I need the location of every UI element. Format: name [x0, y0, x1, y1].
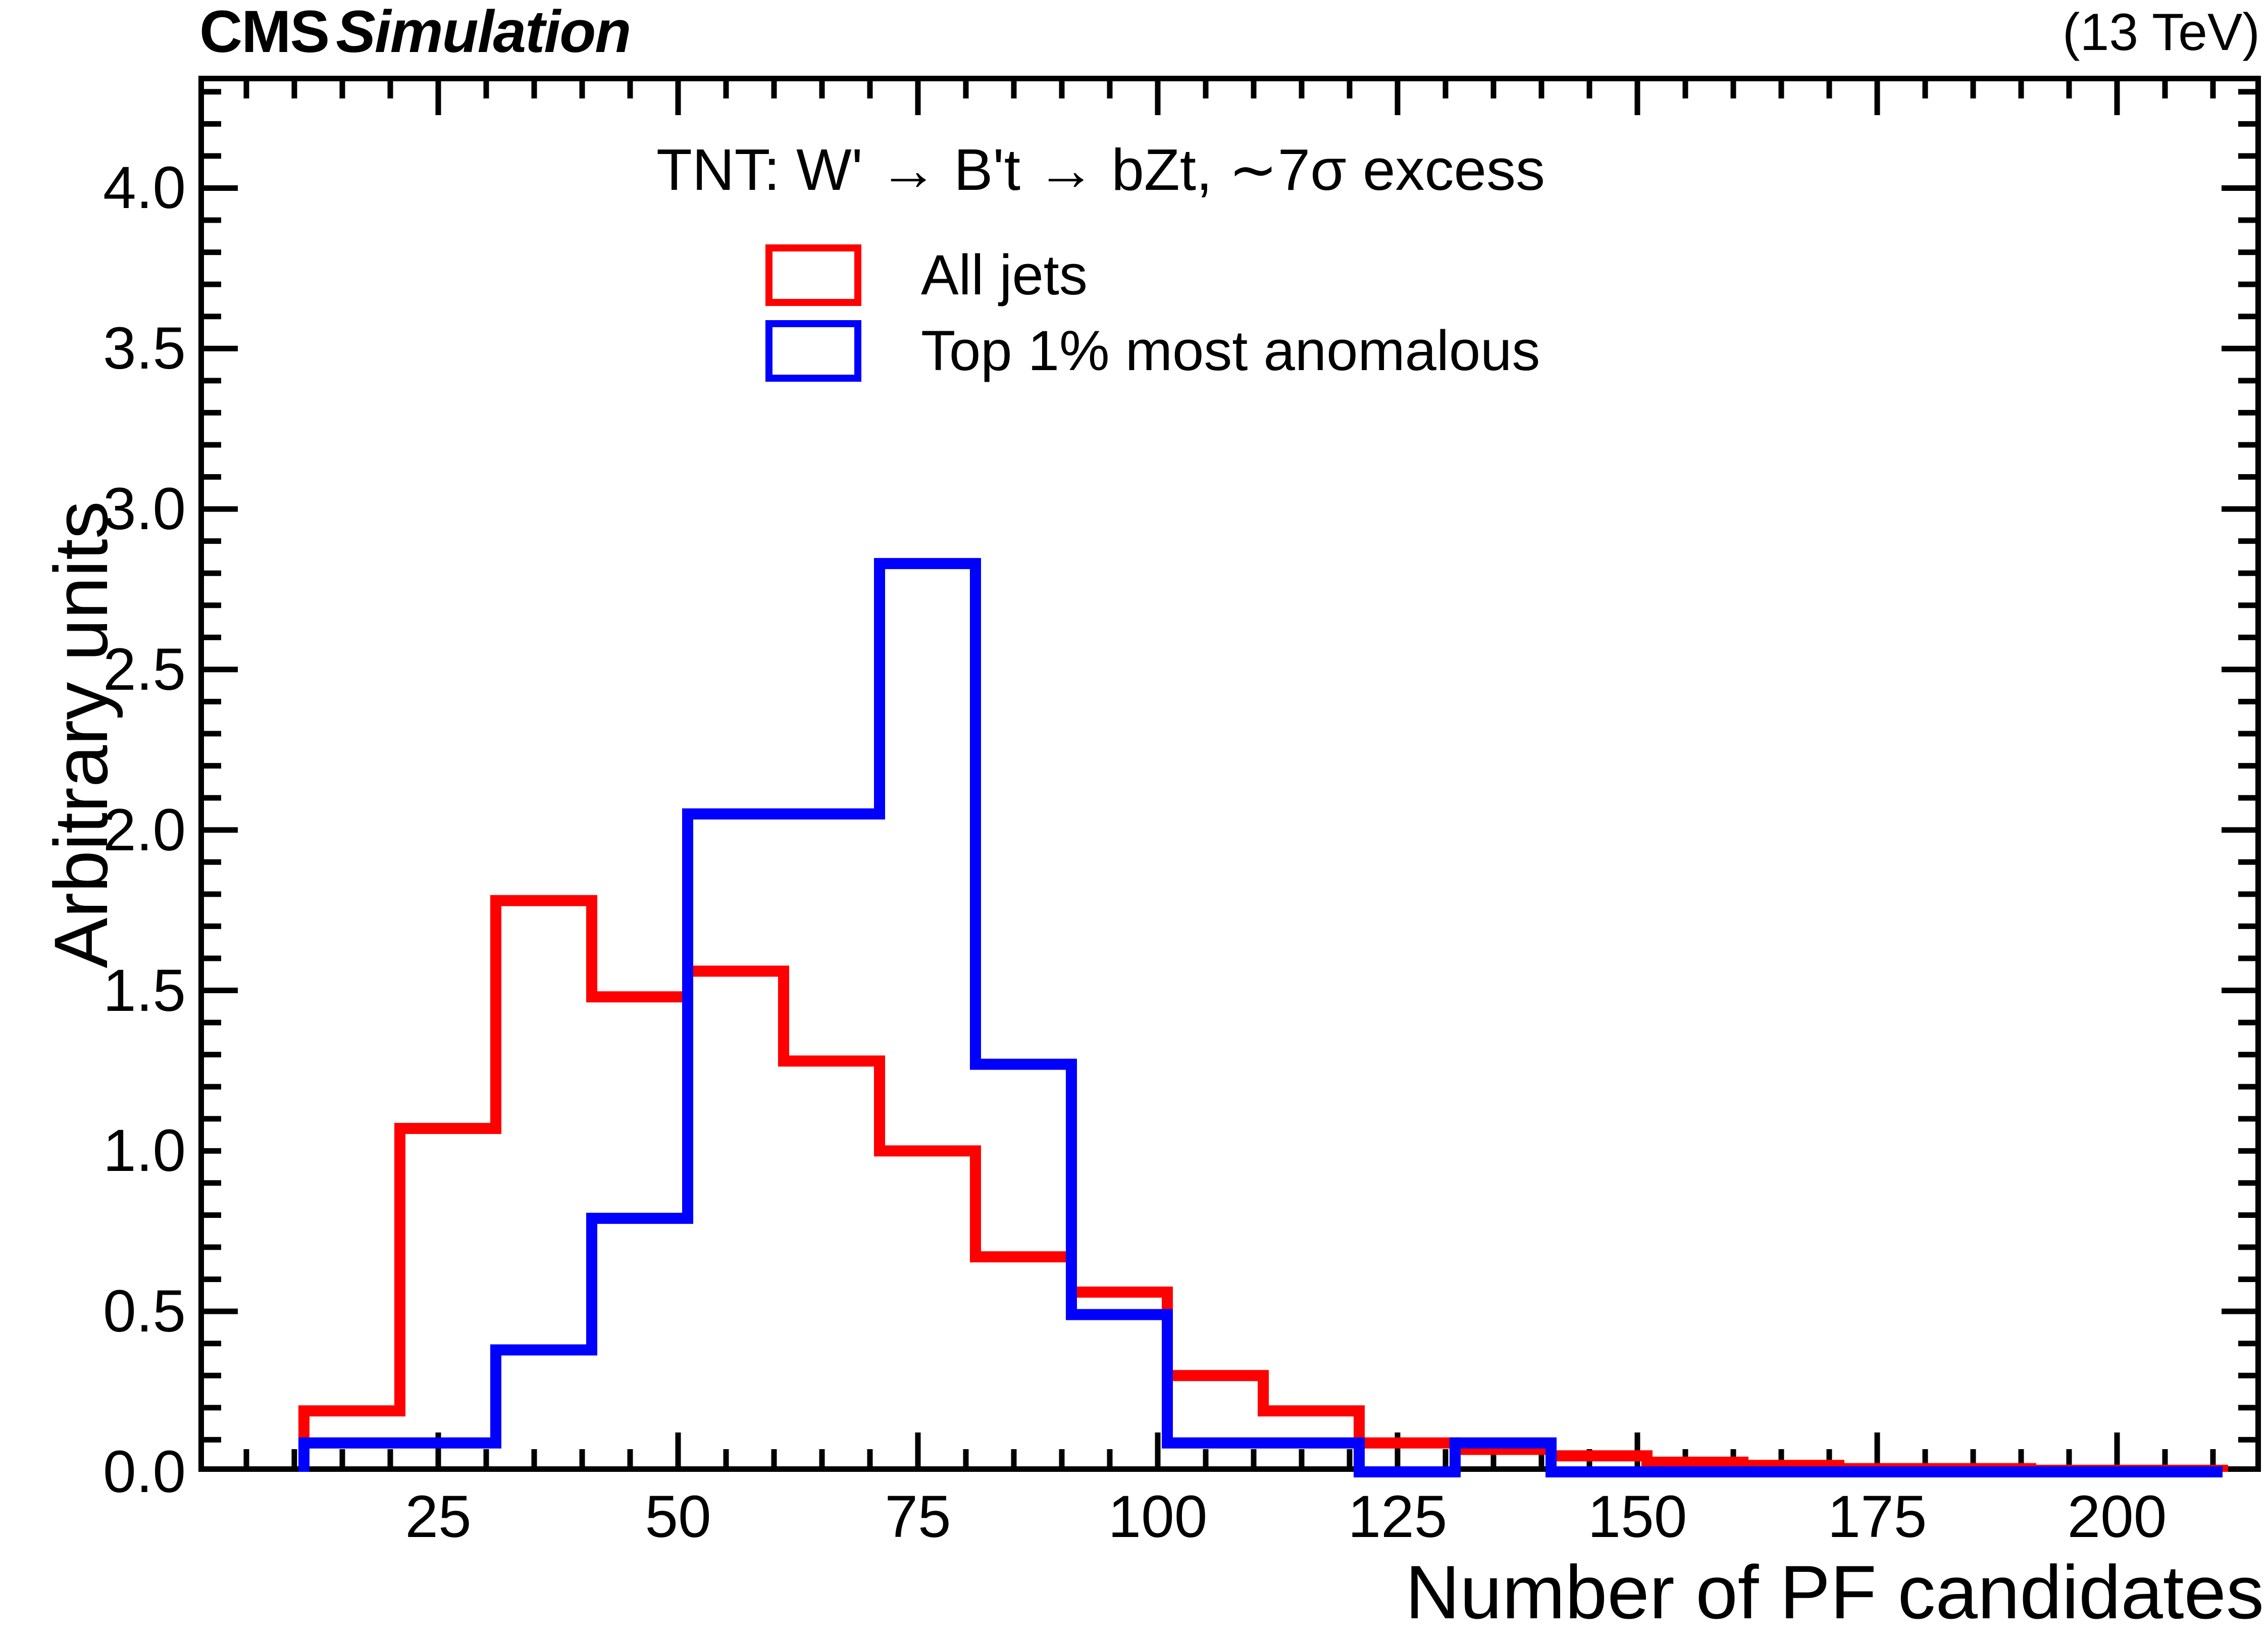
figure-root: CMSSimulation (13 TeV) TNT: W' → B't → b…: [0, 0, 2268, 1640]
y-axis-tick-labels: 0.00.51.01.52.02.53.03.54.0: [0, 0, 186, 1640]
legend-swatch-anomalous: [765, 320, 861, 382]
x-tick-label: 175: [1828, 1487, 1927, 1547]
cms-text: CMS: [199, 0, 329, 65]
simulation-text: Simulation: [336, 0, 630, 65]
legend-label-all-jets: All jets: [921, 247, 1088, 303]
plot-title: TNT: W' → B't → bZt, ∼7σ excess: [656, 140, 1545, 199]
y-tick-label: 2.5: [103, 640, 186, 699]
cms-experiment-label: CMSSimulation: [199, 2, 630, 62]
x-tick-label: 75: [885, 1487, 951, 1547]
y-tick-label: 2.0: [103, 800, 186, 860]
y-tick-label: 1.0: [103, 1121, 186, 1181]
legend-entry-all-jets: All jets: [765, 237, 1540, 313]
legend-entry-anomalous: Top 1% most anomalous: [765, 313, 1540, 389]
y-tick-label: 0.5: [103, 1282, 186, 1341]
y-tick-label: 3.5: [103, 319, 186, 378]
y-tick-label: 0.0: [103, 1442, 186, 1502]
y-tick-label: 1.5: [103, 961, 186, 1020]
x-tick-label: 200: [2068, 1487, 2167, 1547]
x-tick-label: 50: [645, 1487, 711, 1547]
legend: All jets Top 1% most anomalous: [765, 237, 1540, 389]
y-tick-label: 3.0: [103, 479, 186, 539]
x-axis-title: Number of PF candidates: [1405, 1554, 2264, 1630]
legend-label-anomalous: Top 1% most anomalous: [921, 323, 1540, 379]
x-tick-label: 25: [405, 1487, 471, 1547]
energy-label: (13 TeV): [2063, 6, 2260, 59]
x-tick-label: 125: [1348, 1487, 1448, 1547]
legend-swatch-all-jets: [765, 244, 861, 306]
x-tick-label: 150: [1588, 1487, 1687, 1547]
x-tick-label: 100: [1108, 1487, 1208, 1547]
y-tick-label: 4.0: [103, 158, 186, 218]
